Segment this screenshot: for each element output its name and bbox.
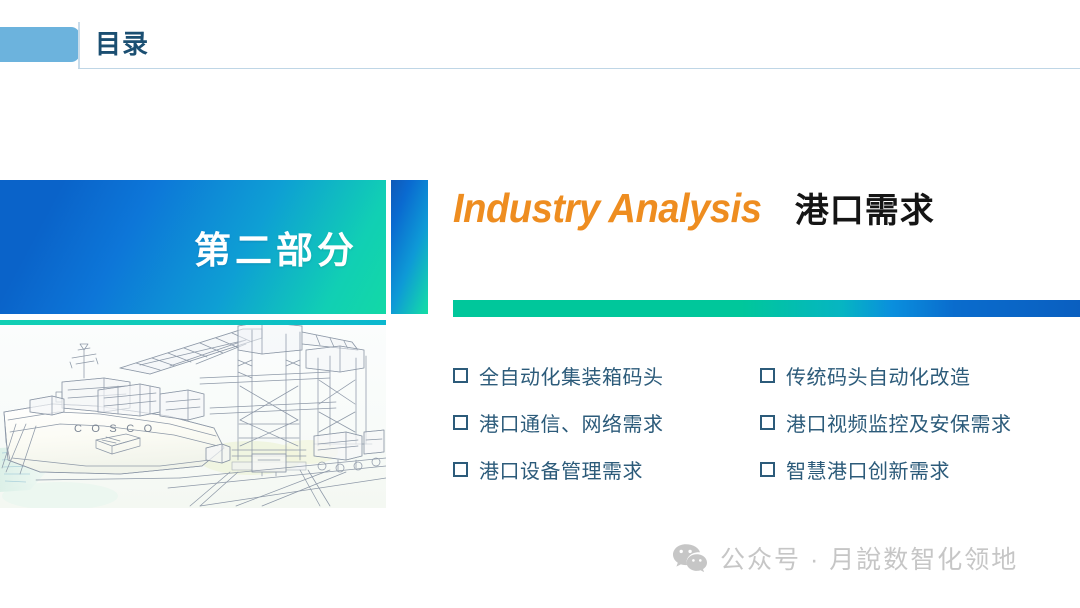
content-heading-english: Industry Analysis — [453, 185, 762, 232]
content-heading: Industry Analysis 港口需求 — [453, 183, 935, 237]
header-tab-shape — [0, 27, 80, 62]
content-heading-chinese: 港口需求 — [795, 183, 935, 232]
hollow-square-bullet-icon — [453, 415, 468, 430]
list-item[interactable]: 港口视频监控及安保需求 — [760, 399, 1080, 446]
list-item[interactable]: 全自动化集装箱码头 — [453, 352, 760, 399]
slide-header: 目录 — [0, 0, 1080, 72]
hollow-square-bullet-icon — [453, 368, 468, 383]
list-item-label: 全自动化集装箱码头 — [479, 361, 664, 390]
slide-canvas: 目录 第二部分 — [0, 0, 1080, 608]
list-item-label: 传统码头自动化改造 — [786, 361, 971, 390]
list-item-label: 智慧港口创新需求 — [786, 455, 950, 484]
list-item[interactable]: 港口通信、网络需求 — [453, 399, 760, 446]
port-illustration: C O S C O — [0, 320, 386, 508]
wechat-icon — [672, 543, 708, 573]
illustration-top-gradient-bar — [0, 320, 386, 325]
page-title: 目录 — [95, 27, 149, 61]
ship-name-text: C O S C O — [74, 423, 155, 435]
section-number-label: 第二部分 — [194, 220, 358, 274]
bullet-grid: 全自动化集装箱码头 传统码头自动化改造 港口通信、网络需求 港口视频监控及安保需… — [453, 352, 1080, 493]
list-item-label: 港口设备管理需求 — [479, 455, 643, 484]
watermark: 公众号 · 月說数智化领地 — [672, 540, 1018, 576]
hollow-square-bullet-icon — [760, 415, 775, 430]
hollow-square-bullet-icon — [760, 462, 775, 477]
list-item-label: 港口视频监控及安保需求 — [786, 408, 1012, 437]
list-item[interactable]: 传统码头自动化改造 — [760, 352, 1080, 399]
list-item[interactable]: 智慧港口创新需求 — [760, 446, 1080, 493]
list-item[interactable]: 港口设备管理需求 — [453, 446, 760, 493]
section-number-panel: 第二部分 — [0, 180, 386, 314]
list-item-label: 港口通信、网络需求 — [479, 408, 664, 437]
header-vertical-divider — [78, 22, 80, 68]
port-container-ship-sketch-icon: C O S C O — [0, 320, 386, 508]
section-accent-bar — [391, 180, 428, 314]
watermark-text: 公众号 · 月說数智化领地 — [720, 540, 1018, 576]
hollow-square-bullet-icon — [453, 462, 468, 477]
content-divider-bar — [453, 300, 1080, 317]
header-horizontal-rule — [78, 68, 1080, 69]
hollow-square-bullet-icon — [760, 368, 775, 383]
